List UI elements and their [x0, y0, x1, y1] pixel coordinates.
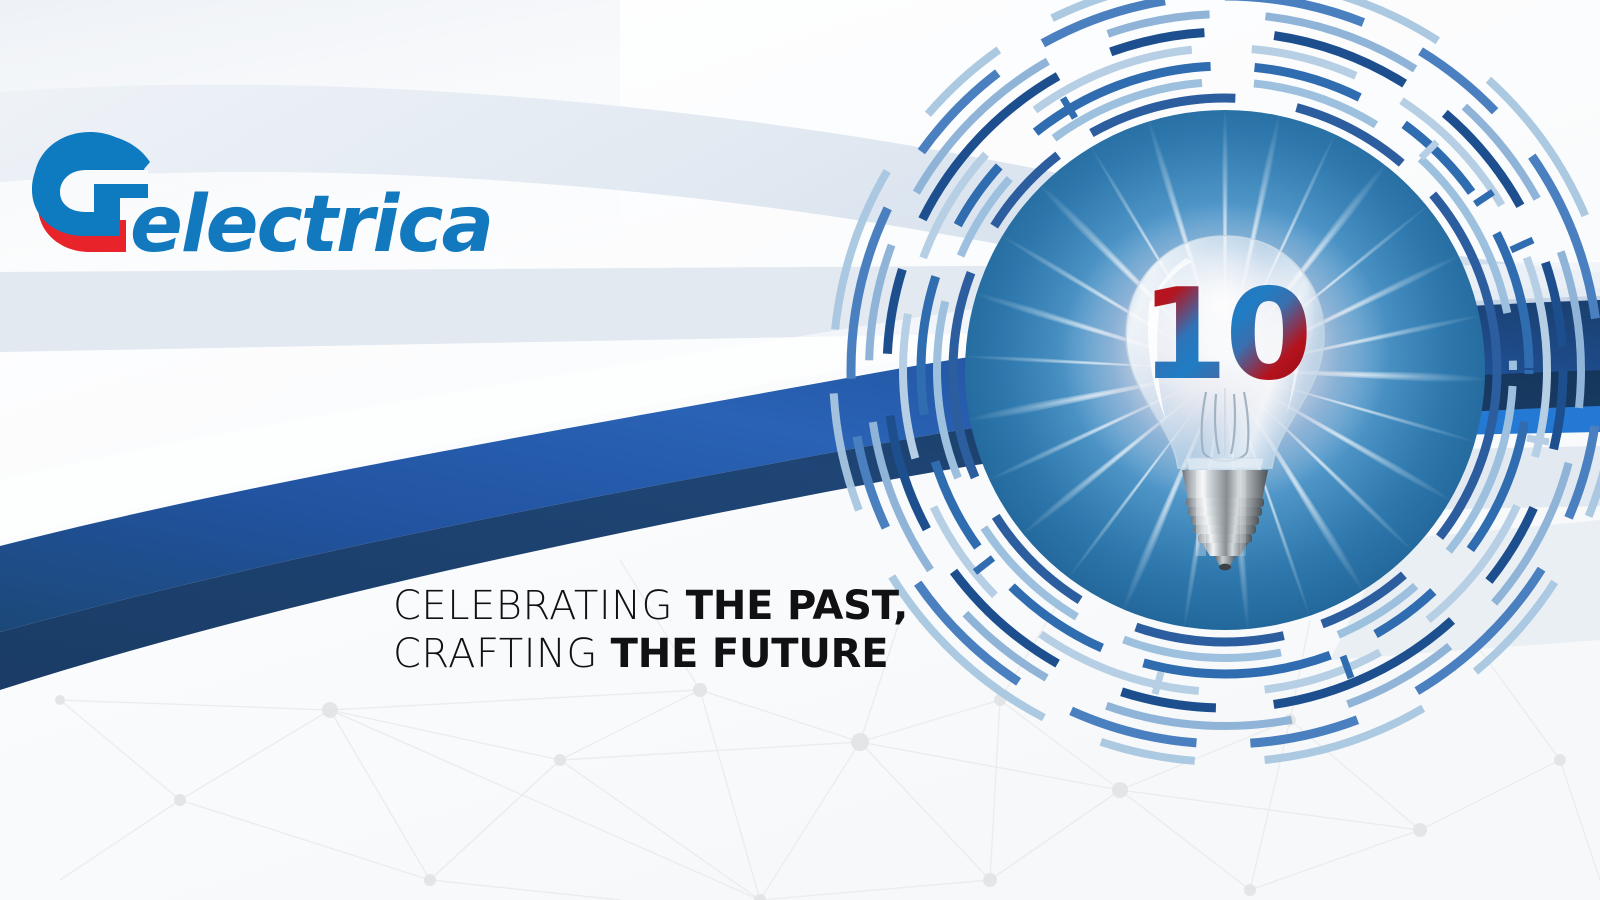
tagline-line2-bold: THE FUTURE	[611, 631, 889, 677]
tagline-line-2: CRAFTING THE FUTURE	[393, 630, 908, 678]
tagline-line2-light: CRAFTING	[393, 631, 598, 677]
tagline-line1-bold: THE PAST,	[686, 583, 908, 629]
brand-wordmark: electrica	[130, 186, 492, 264]
tagline: CELEBRATING THE PAST, CRAFTING THE FUTUR…	[393, 582, 908, 678]
bulb-screw-base	[1182, 470, 1268, 570]
tagline-line1-light: CELEBRATING	[393, 583, 673, 629]
tagline-line-1: CELEBRATING THE PAST,	[393, 582, 908, 630]
anniversary-number: 10	[1140, 261, 1309, 408]
brand-logo[interactable]: electrica	[22, 128, 492, 273]
bulb-glass: 10	[1126, 232, 1324, 474]
banner-canvas: 10	[0, 0, 1600, 900]
